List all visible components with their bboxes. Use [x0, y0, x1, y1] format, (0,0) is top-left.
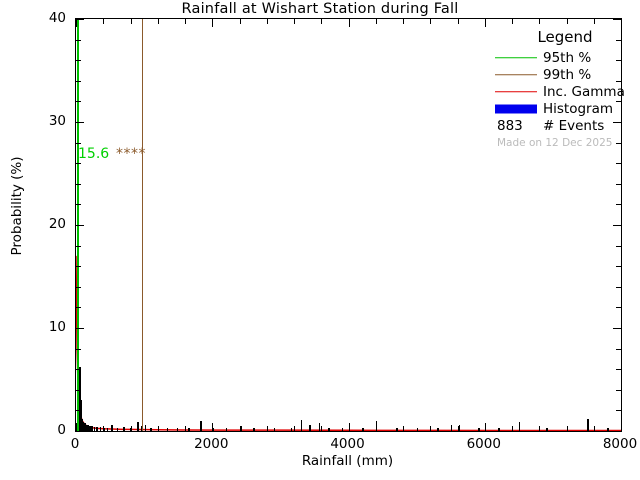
axis-tick: [485, 19, 486, 27]
axis-tick: [321, 19, 322, 24]
histogram-bar: [100, 427, 102, 431]
axis-tick: [616, 307, 621, 308]
histogram-bar: [123, 427, 125, 431]
legend-label: 99th %: [543, 67, 591, 83]
legend-label: Histogram: [543, 101, 613, 117]
histogram-bar: [342, 428, 344, 431]
percentile-99-line: [142, 19, 143, 431]
axis-tick: [240, 426, 241, 431]
legend-swatch-line: [495, 74, 537, 76]
events-label: # Events: [543, 118, 604, 134]
histogram-bar: [226, 428, 228, 431]
histogram-bar: [587, 419, 589, 431]
histogram-bar: [498, 428, 500, 431]
axis-tick: [349, 19, 350, 27]
histogram-bar: [274, 428, 276, 431]
axis-tick: [613, 328, 621, 329]
axis-tick: [76, 349, 81, 350]
histogram-bar: [94, 427, 96, 431]
axis-tick: [76, 19, 84, 20]
axis-tick: [458, 19, 459, 24]
legend-title: Legend: [505, 28, 625, 46]
histogram-bar: [96, 427, 98, 431]
histogram-bar: [319, 423, 321, 431]
axis-tick: [158, 426, 159, 431]
histogram-bar: [417, 428, 419, 431]
axis-tick: [485, 423, 486, 431]
histogram-bar: [451, 425, 453, 431]
axis-tick: [613, 431, 621, 432]
axis-tick: [212, 423, 213, 431]
histogram-bar: [107, 428, 109, 431]
axis-tick: [616, 410, 621, 411]
histogram-bar: [301, 420, 303, 431]
axis-tick: [76, 246, 81, 247]
axis-tick: [567, 19, 568, 24]
legend: Legend 95th %99th %Inc. GammaHistogram 8…: [495, 28, 625, 149]
axis-tick: [616, 369, 621, 370]
legend-row-events: 883 # Events: [495, 117, 625, 134]
histogram-bar: [91, 426, 93, 431]
legend-footnote: Made on 12 Dec 2025: [497, 137, 625, 149]
axis-tick: [294, 19, 295, 24]
axis-tick: [76, 204, 81, 205]
y-tick-label: 0: [8, 422, 66, 438]
axis-tick: [376, 426, 377, 431]
histogram-bar: [111, 425, 113, 431]
axis-tick: [76, 163, 81, 164]
legend-label: Inc. Gamma: [543, 84, 625, 100]
axis-tick: [76, 390, 81, 391]
histogram-bar: [478, 428, 480, 431]
axis-tick: [76, 101, 81, 102]
axis-tick: [616, 266, 621, 267]
axis-tick: [512, 19, 513, 24]
axis-tick: [616, 246, 621, 247]
x-tick-label: 4000: [330, 436, 364, 452]
axis-tick: [430, 426, 431, 431]
legend-swatch: [495, 103, 537, 114]
legend-row: 95th %: [495, 49, 625, 66]
axis-tick: [76, 410, 81, 411]
axis-tick: [616, 287, 621, 288]
y-tick-label: 40: [8, 10, 66, 26]
inc-gamma-polyline: [76, 256, 621, 431]
histogram-bar: [362, 428, 364, 431]
histogram-bar: [177, 428, 179, 431]
axis-tick: [131, 19, 132, 24]
axis-tick: [594, 19, 595, 24]
histogram-bar: [309, 425, 311, 431]
histogram-bar: [241, 426, 243, 431]
x-tick-label: 8000: [603, 436, 637, 452]
axis-tick: [76, 287, 81, 288]
axis-tick: [403, 19, 404, 24]
axis-tick: [616, 184, 621, 185]
axis-tick: [403, 426, 404, 431]
y-axis-title: Probability (%): [9, 116, 25, 296]
percentile-95-label: 15.6: [78, 146, 109, 162]
axis-tick: [376, 19, 377, 24]
axis-tick: [512, 426, 513, 431]
legend-label: 95th %: [543, 50, 591, 66]
percentile-99-label: ****: [116, 146, 146, 162]
axis-tick: [103, 19, 104, 24]
histogram-bar: [117, 428, 119, 431]
histogram-bar: [145, 425, 147, 431]
axis-tick: [158, 19, 159, 24]
legend-rows: 95th %99th %Inc. GammaHistogram: [495, 49, 625, 117]
axis-tick: [458, 426, 459, 431]
axis-tick: [76, 225, 84, 226]
axis-tick: [430, 19, 431, 24]
axis-tick: [103, 426, 104, 431]
axis-tick: [76, 328, 84, 329]
axis-tick: [76, 184, 81, 185]
page-title: Rainfall at Wishart Station during Fall: [0, 1, 640, 17]
axis-tick: [616, 204, 621, 205]
legend-row: 99th %: [495, 66, 625, 83]
x-tick-label: 6000: [467, 436, 501, 452]
axis-tick: [76, 122, 84, 123]
axis-tick: [240, 19, 241, 24]
legend-swatch: [495, 52, 537, 63]
axis-tick: [76, 19, 77, 27]
x-axis-title: Rainfall (mm): [75, 453, 620, 469]
axis-tick: [539, 426, 540, 431]
axis-tick: [616, 163, 621, 164]
histogram-bar: [328, 428, 330, 431]
histogram-bar: [200, 421, 202, 431]
events-count: 883: [495, 118, 537, 134]
axis-tick: [185, 19, 186, 24]
chart-figure: Rainfall at Wishart Station during Fall …: [0, 0, 640, 480]
histogram-bar: [459, 425, 461, 431]
axis-tick: [76, 60, 81, 61]
histogram-bar: [291, 428, 293, 431]
x-tick-label: 2000: [194, 436, 228, 452]
legend-row: Histogram: [495, 100, 625, 117]
axis-tick: [212, 19, 213, 27]
axis-tick: [76, 307, 81, 308]
axis-tick: [321, 426, 322, 431]
axis-tick: [621, 423, 622, 431]
axis-tick: [76, 40, 81, 41]
axis-tick: [613, 19, 621, 20]
axis-tick: [267, 426, 268, 431]
axis-tick: [567, 426, 568, 431]
axis-tick: [267, 19, 268, 24]
histogram-bar: [519, 422, 521, 431]
y-tick-label: 10: [8, 319, 66, 335]
axis-tick: [616, 390, 621, 391]
histogram-bar: [150, 428, 152, 431]
histogram-bar: [607, 428, 609, 431]
legend-swatch-line: [495, 104, 537, 113]
axis-tick: [76, 81, 81, 82]
legend-swatch-line: [495, 57, 537, 59]
axis-tick: [76, 423, 77, 431]
axis-tick: [539, 19, 540, 24]
histogram-bar: [188, 428, 190, 431]
axis-tick: [294, 426, 295, 431]
histogram-bar: [137, 422, 139, 431]
axis-tick: [594, 426, 595, 431]
axis-tick: [131, 426, 132, 431]
legend-row: Inc. Gamma: [495, 83, 625, 100]
histogram-bar: [546, 428, 548, 431]
histogram-bar: [253, 428, 255, 431]
histogram-bar: [167, 428, 169, 431]
axis-tick: [76, 266, 81, 267]
axis-tick: [621, 19, 622, 27]
histogram-bar: [396, 428, 398, 431]
legend-swatch: [495, 86, 537, 97]
axis-tick: [185, 426, 186, 431]
histogram-bar: [437, 428, 439, 431]
legend-swatch-line: [495, 91, 537, 93]
legend-swatch: [495, 69, 537, 80]
axis-tick: [76, 369, 81, 370]
axis-tick: [76, 143, 81, 144]
axis-tick: [616, 349, 621, 350]
axis-tick: [613, 225, 621, 226]
axis-tick: [349, 423, 350, 431]
x-tick-label: 0: [71, 436, 80, 452]
axis-tick: [76, 431, 84, 432]
